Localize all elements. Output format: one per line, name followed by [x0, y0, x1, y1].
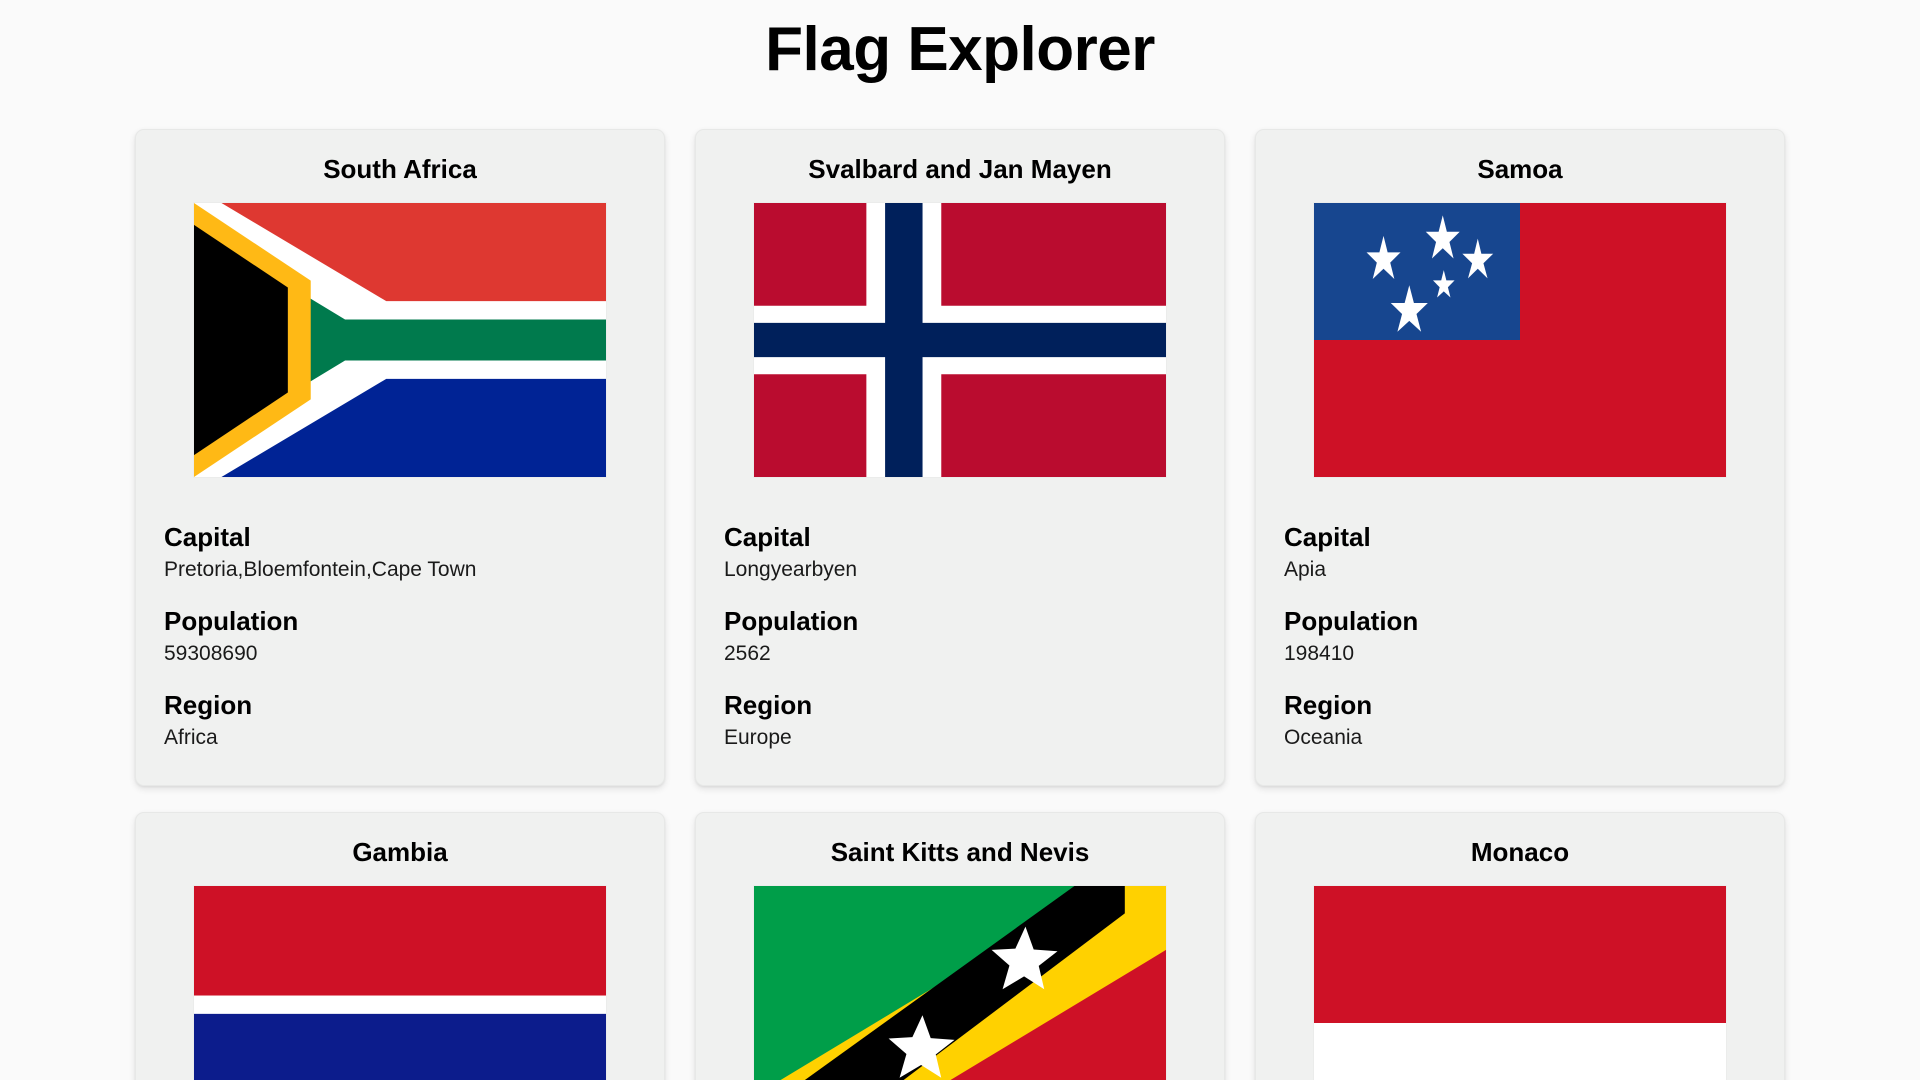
region-label: Region: [1284, 689, 1756, 722]
country-name: Monaco: [1284, 837, 1756, 868]
capital-field: Capital Longyearbyen: [724, 521, 1196, 583]
flag-explorer-page: Flag Explorer South Africa: [0, 0, 1920, 1080]
capital-label: Capital: [724, 521, 1196, 554]
region-value: Europe: [724, 724, 1196, 751]
population-label: Population: [1284, 605, 1756, 638]
country-name: Saint Kitts and Nevis: [724, 837, 1196, 868]
population-field: Population 198410: [1284, 605, 1756, 667]
capital-value: Pretoria,Bloemfontein,Cape Town: [164, 556, 636, 583]
capital-value: Apia: [1284, 556, 1756, 583]
flag-card[interactable]: Monaco Capital Monaco Population 39244 R…: [1255, 812, 1785, 1080]
flag-card[interactable]: Samoa: [1255, 129, 1785, 786]
population-value: 59308690: [164, 640, 636, 667]
region-field: Region Oceania: [1284, 689, 1756, 751]
population-label: Population: [724, 605, 1196, 638]
region-value: Oceania: [1284, 724, 1756, 751]
flag-svalbard-and-jan-mayen-icon: [754, 203, 1166, 477]
flag-card-grid: South Africa Capital: [0, 129, 1920, 1080]
flag-image-wrapper: [724, 886, 1196, 1080]
region-value: Africa: [164, 724, 636, 751]
capital-field: Capital Apia: [1284, 521, 1756, 583]
flag-image-wrapper: [1284, 886, 1756, 1080]
flag-image-wrapper: [1284, 203, 1756, 477]
flag-card[interactable]: South Africa Capital: [135, 129, 665, 786]
capital-field: Capital Pretoria,Bloemfontein,Cape Town: [164, 521, 636, 583]
flag-gambia-icon: [194, 886, 606, 1080]
country-name: Gambia: [164, 837, 636, 868]
country-name: Samoa: [1284, 154, 1756, 185]
flag-card[interactable]: Gambia Capital Banjul P: [135, 812, 665, 1080]
region-field: Region Africa: [164, 689, 636, 751]
capital-label: Capital: [1284, 521, 1756, 554]
page-title: Flag Explorer: [0, 14, 1920, 85]
population-field: Population 2562: [724, 605, 1196, 667]
flag-image-wrapper: [164, 203, 636, 477]
capital-value: Longyearbyen: [724, 556, 1196, 583]
flag-card[interactable]: Saint Kitts and Nevis C: [695, 812, 1225, 1080]
flag-saint-kitts-and-nevis-icon: [754, 886, 1166, 1080]
population-label: Population: [164, 605, 636, 638]
flag-image-wrapper: [724, 203, 1196, 477]
flag-card[interactable]: Svalbard and Jan Mayen Capital Longyearb…: [695, 129, 1225, 786]
country-name: South Africa: [164, 154, 636, 185]
flag-samoa-icon: [1314, 203, 1726, 477]
flag-image-wrapper: [164, 886, 636, 1080]
flag-monaco-icon: [1314, 886, 1726, 1080]
population-value: 2562: [724, 640, 1196, 667]
population-value: 198410: [1284, 640, 1756, 667]
flag-south-africa-icon: [194, 203, 606, 477]
capital-label: Capital: [164, 521, 636, 554]
country-name: Svalbard and Jan Mayen: [724, 154, 1196, 185]
region-label: Region: [724, 689, 1196, 722]
region-field: Region Europe: [724, 689, 1196, 751]
population-field: Population 59308690: [164, 605, 636, 667]
region-label: Region: [164, 689, 636, 722]
